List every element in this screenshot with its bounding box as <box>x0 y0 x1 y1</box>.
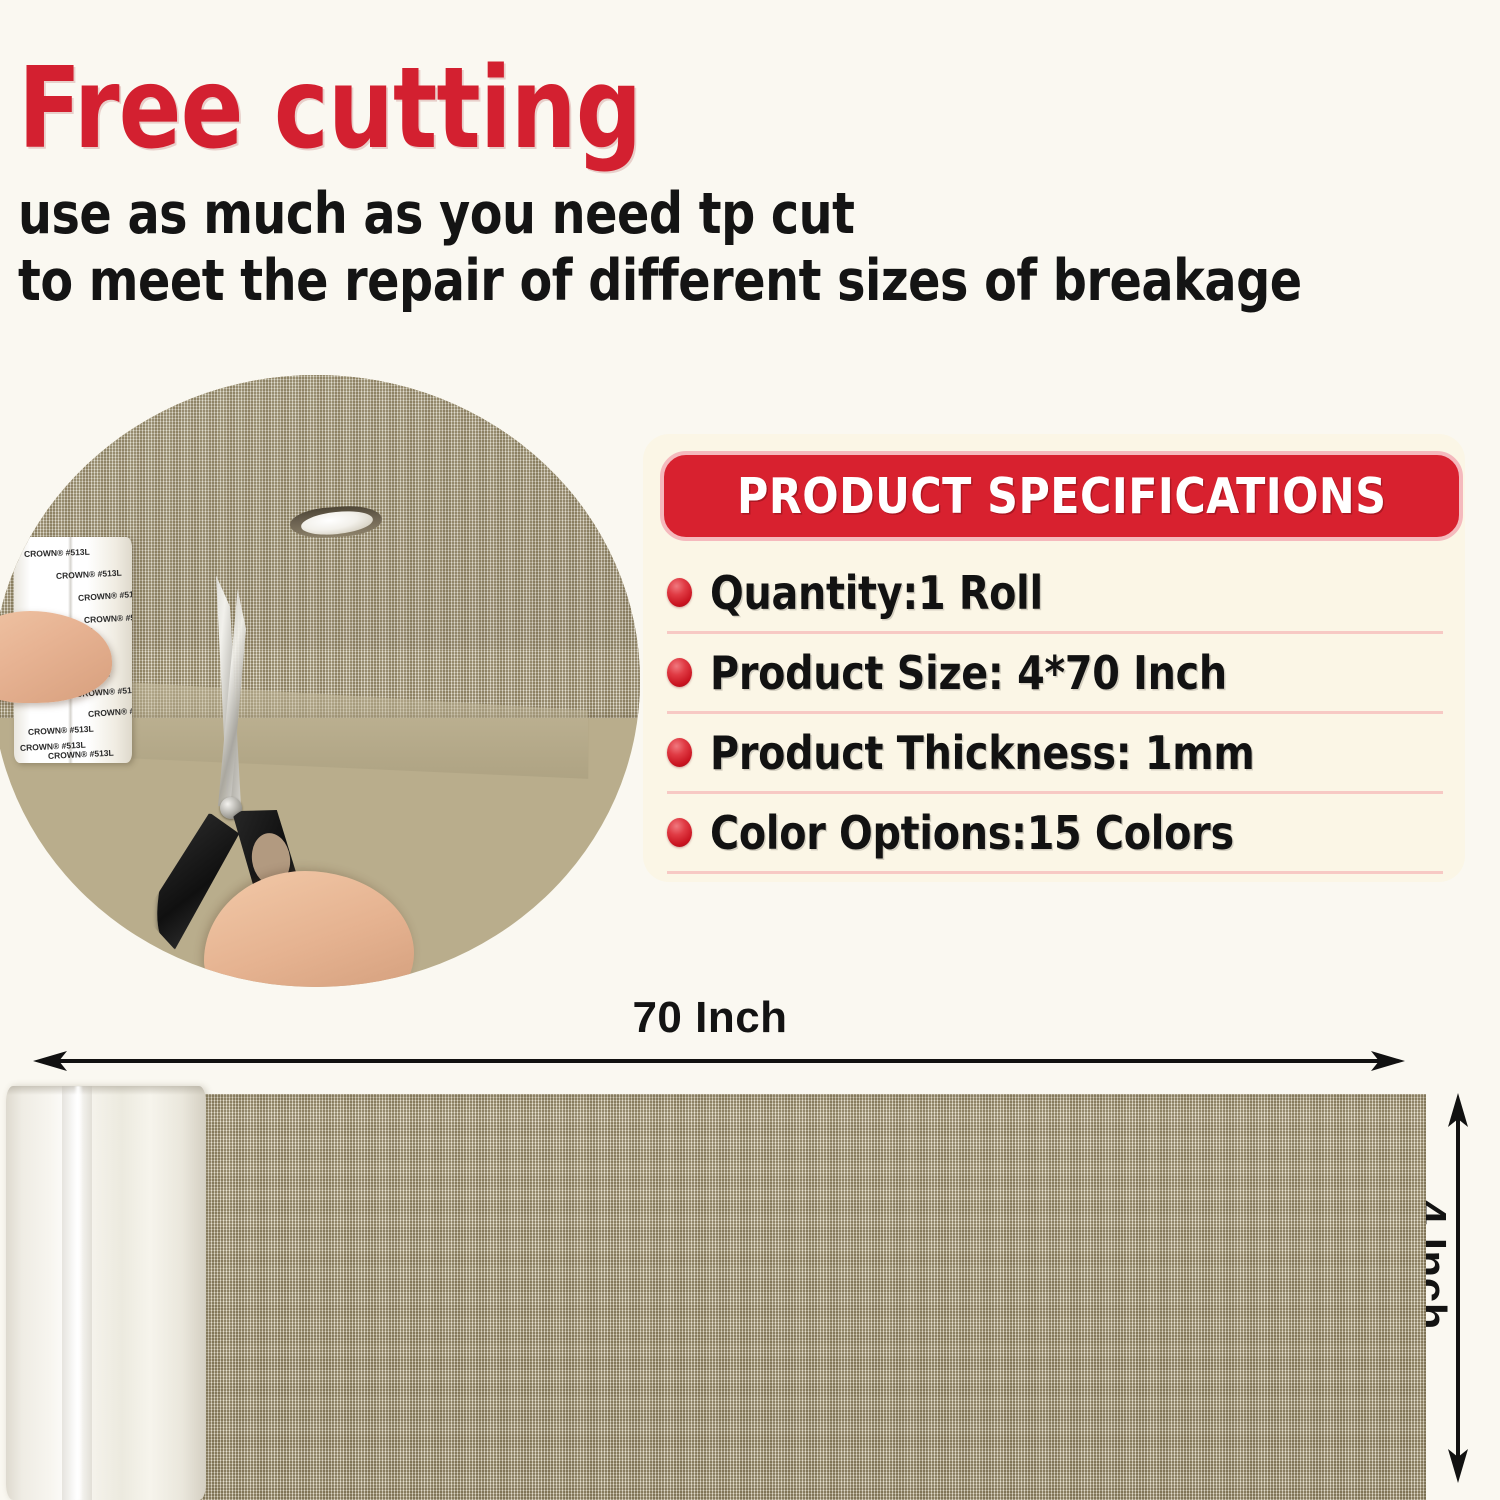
spec-label-product-size: Product Size: 4*70 Inch <box>710 646 1227 700</box>
spec-row-thickness: Product Thickness: 1mm <box>667 714 1443 794</box>
roll-sheen-highlight <box>74 1086 83 1500</box>
product-infographic: Free cutting use as much as you need tp … <box>0 0 1500 1500</box>
roll-brand-label: CROWN® #513L <box>48 748 114 761</box>
roll-brand-label: CROWN® #513L <box>56 568 122 581</box>
spec-label-thickness: Product Thickness: 1mm <box>710 726 1254 780</box>
roll-brand-label: CROWN® #513L <box>88 704 132 719</box>
bullet-dot-icon <box>667 578 692 607</box>
roll-brand-label: CROWN® #513L <box>78 588 132 603</box>
spec-label-color-options: Color Options:15 Colors <box>710 806 1234 860</box>
roll-brand-label: CROWN® #513L <box>24 547 90 559</box>
page-title: Free cutting <box>18 52 1370 166</box>
bullet-dot-icon <box>667 658 692 687</box>
bullet-dot-icon <box>667 818 692 847</box>
tape-roll-cylinder <box>6 1086 206 1500</box>
roll-brand-label: CROWN® #513L <box>28 724 94 737</box>
cutting-demo-photo: CROWN® #513LCROWN® #513LCROWN® #513LCROW… <box>0 375 640 987</box>
product-strip-diagram <box>0 1086 1426 1500</box>
spec-list: Quantity:1 Roll Product Size: 4*70 Inch … <box>667 554 1443 874</box>
spec-label-quantity: Quantity:1 Roll <box>710 566 1043 620</box>
headline-block: Free cutting use as much as you need tp … <box>18 52 1488 314</box>
fabric-tear <box>290 507 382 537</box>
roll-top-edge <box>6 1086 206 1095</box>
spec-header-title: PRODUCT SPECIFICATIONS <box>737 468 1386 525</box>
fabric-tape-strip <box>190 1094 1426 1500</box>
spec-row-color-options: Color Options:15 Colors <box>667 794 1443 874</box>
spec-header-banner: PRODUCT SPECIFICATIONS <box>660 451 1463 541</box>
subtitle-line-2: to meet the repair of different sizes of… <box>18 249 1385 314</box>
product-specifications-panel: PRODUCT SPECIFICATIONS Quantity:1 Roll P… <box>643 434 1465 882</box>
spec-row-quantity: Quantity:1 Roll <box>667 554 1443 634</box>
roll-brand-label: CROWN® #513L <box>84 612 132 625</box>
horizontal-dimension-arrow <box>33 1049 1405 1073</box>
width-dimension-text: 70 Inch <box>632 993 787 1042</box>
width-dimension-label: 70 Inch <box>0 993 1500 1043</box>
subtitle-line-1: use as much as you need tp cut <box>18 182 1385 247</box>
spec-row-product-size: Product Size: 4*70 Inch <box>667 634 1443 714</box>
bullet-dot-icon <box>667 738 692 767</box>
